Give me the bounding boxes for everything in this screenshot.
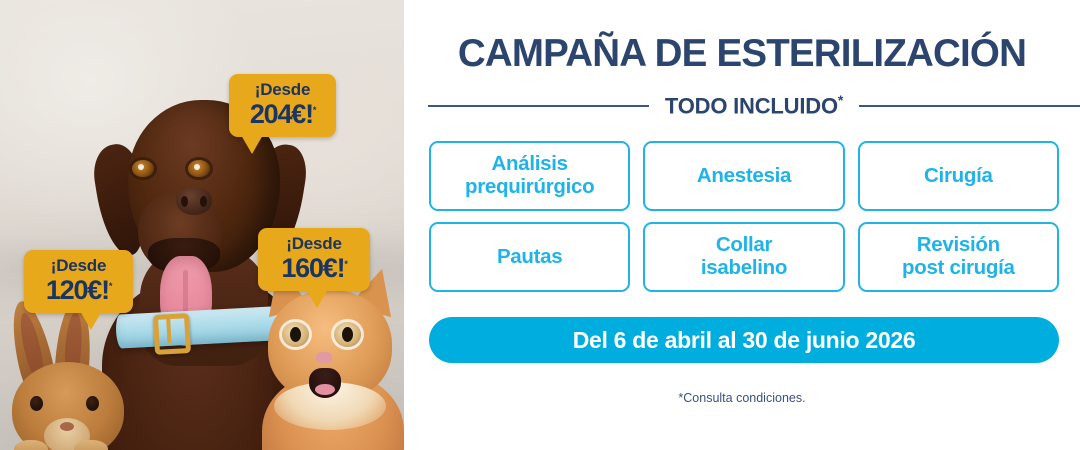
- price-bubble-rabbit-amount: 120€!*: [28, 277, 129, 304]
- disclaimer-text: *Consulta condiciones.: [404, 391, 1080, 405]
- price-bubble-dog-prefix: ¡Desde: [233, 81, 332, 98]
- service-label-line1: Revisión: [902, 234, 1015, 257]
- price-bubble-cat: ¡Desde 160€!*: [258, 228, 370, 291]
- collar-buckle: [153, 313, 191, 355]
- dog-eye-right: [188, 160, 210, 177]
- service-label-line2: post cirugía: [902, 257, 1015, 280]
- divider-left: [428, 105, 649, 107]
- price-bubble-dog-amount: 204€!*: [233, 101, 332, 128]
- rabbit-nose: [60, 422, 74, 431]
- campaign-dates-button[interactable]: Del 6 de abril al 30 de junio 2026: [429, 317, 1059, 363]
- subtitle: TODO INCLUIDO*: [665, 92, 843, 119]
- service-box-collar-isabelino[interactable]: Collar isabelino: [643, 222, 844, 292]
- price-bubble-rabbit: ¡Desde 120€!*: [24, 250, 133, 313]
- service-label-line2: prequirúrgico: [465, 176, 594, 199]
- dog-nose: [176, 188, 212, 215]
- price-bubble-cat-prefix: ¡Desde: [262, 235, 366, 252]
- service-label-line1: Anestesia: [697, 165, 791, 188]
- price-bubble-rabbit-prefix: ¡Desde: [28, 257, 129, 274]
- price-bubble-dog: ¡Desde 204€!*: [229, 74, 336, 137]
- divider-right: [859, 105, 1080, 107]
- campaign-banner: ¡Desde 204€!* ¡Desde 160€!* ¡Desde 120€!…: [0, 0, 1080, 450]
- cat-mouth: [309, 368, 341, 398]
- page-title: CAMPAÑA DE ESTERILIZACIÓN: [404, 32, 1080, 76]
- subtitle-row: TODO INCLUIDO*: [428, 92, 1080, 119]
- service-box-analisis-prequirurgico[interactable]: Análisis prequirúrgico: [429, 141, 630, 211]
- price-bubble-cat-asterisk: *: [344, 259, 346, 269]
- services-grid: Análisis prequirúrgico Anestesia Cirugía…: [429, 141, 1059, 292]
- dog-eye-left: [132, 160, 154, 177]
- cat-nose: [316, 352, 332, 364]
- cat-eye-right: [334, 322, 361, 347]
- service-box-pautas[interactable]: Pautas: [429, 222, 630, 292]
- service-box-revision-post-cirugia[interactable]: Revisión post cirugía: [858, 222, 1059, 292]
- cat-illustration: [256, 278, 404, 450]
- pets-photo: ¡Desde 204€!* ¡Desde 160€!* ¡Desde 120€!…: [0, 0, 404, 450]
- price-bubble-rabbit-tail: [80, 311, 102, 330]
- service-label-line1: Cirugía: [924, 165, 993, 188]
- service-label-line2: isabelino: [701, 257, 787, 280]
- rabbit-paw-right: [74, 440, 108, 450]
- price-bubble-cat-tail: [306, 289, 328, 308]
- rabbit-paw-left: [14, 440, 48, 450]
- price-bubble-dog-asterisk: *: [313, 105, 315, 115]
- price-bubble-rabbit-asterisk: *: [109, 281, 111, 291]
- service-label-line1: Collar: [701, 234, 787, 257]
- rabbit-eye-right: [86, 396, 99, 411]
- rabbit-illustration: [4, 300, 132, 450]
- price-bubble-cat-amount: 160€!*: [262, 255, 366, 282]
- service-box-cirugia[interactable]: Cirugía: [858, 141, 1059, 211]
- service-label-line1: Pautas: [497, 246, 562, 269]
- rabbit-eye-left: [30, 396, 43, 411]
- subtitle-asterisk: *: [838, 92, 843, 108]
- price-bubble-dog-tail: [241, 135, 263, 154]
- service-box-anestesia[interactable]: Anestesia: [643, 141, 844, 211]
- service-label-line1: Análisis: [465, 153, 594, 176]
- campaign-content: CAMPAÑA DE ESTERILIZACIÓN TODO INCLUIDO*…: [404, 0, 1080, 450]
- cat-eye-left: [282, 322, 309, 347]
